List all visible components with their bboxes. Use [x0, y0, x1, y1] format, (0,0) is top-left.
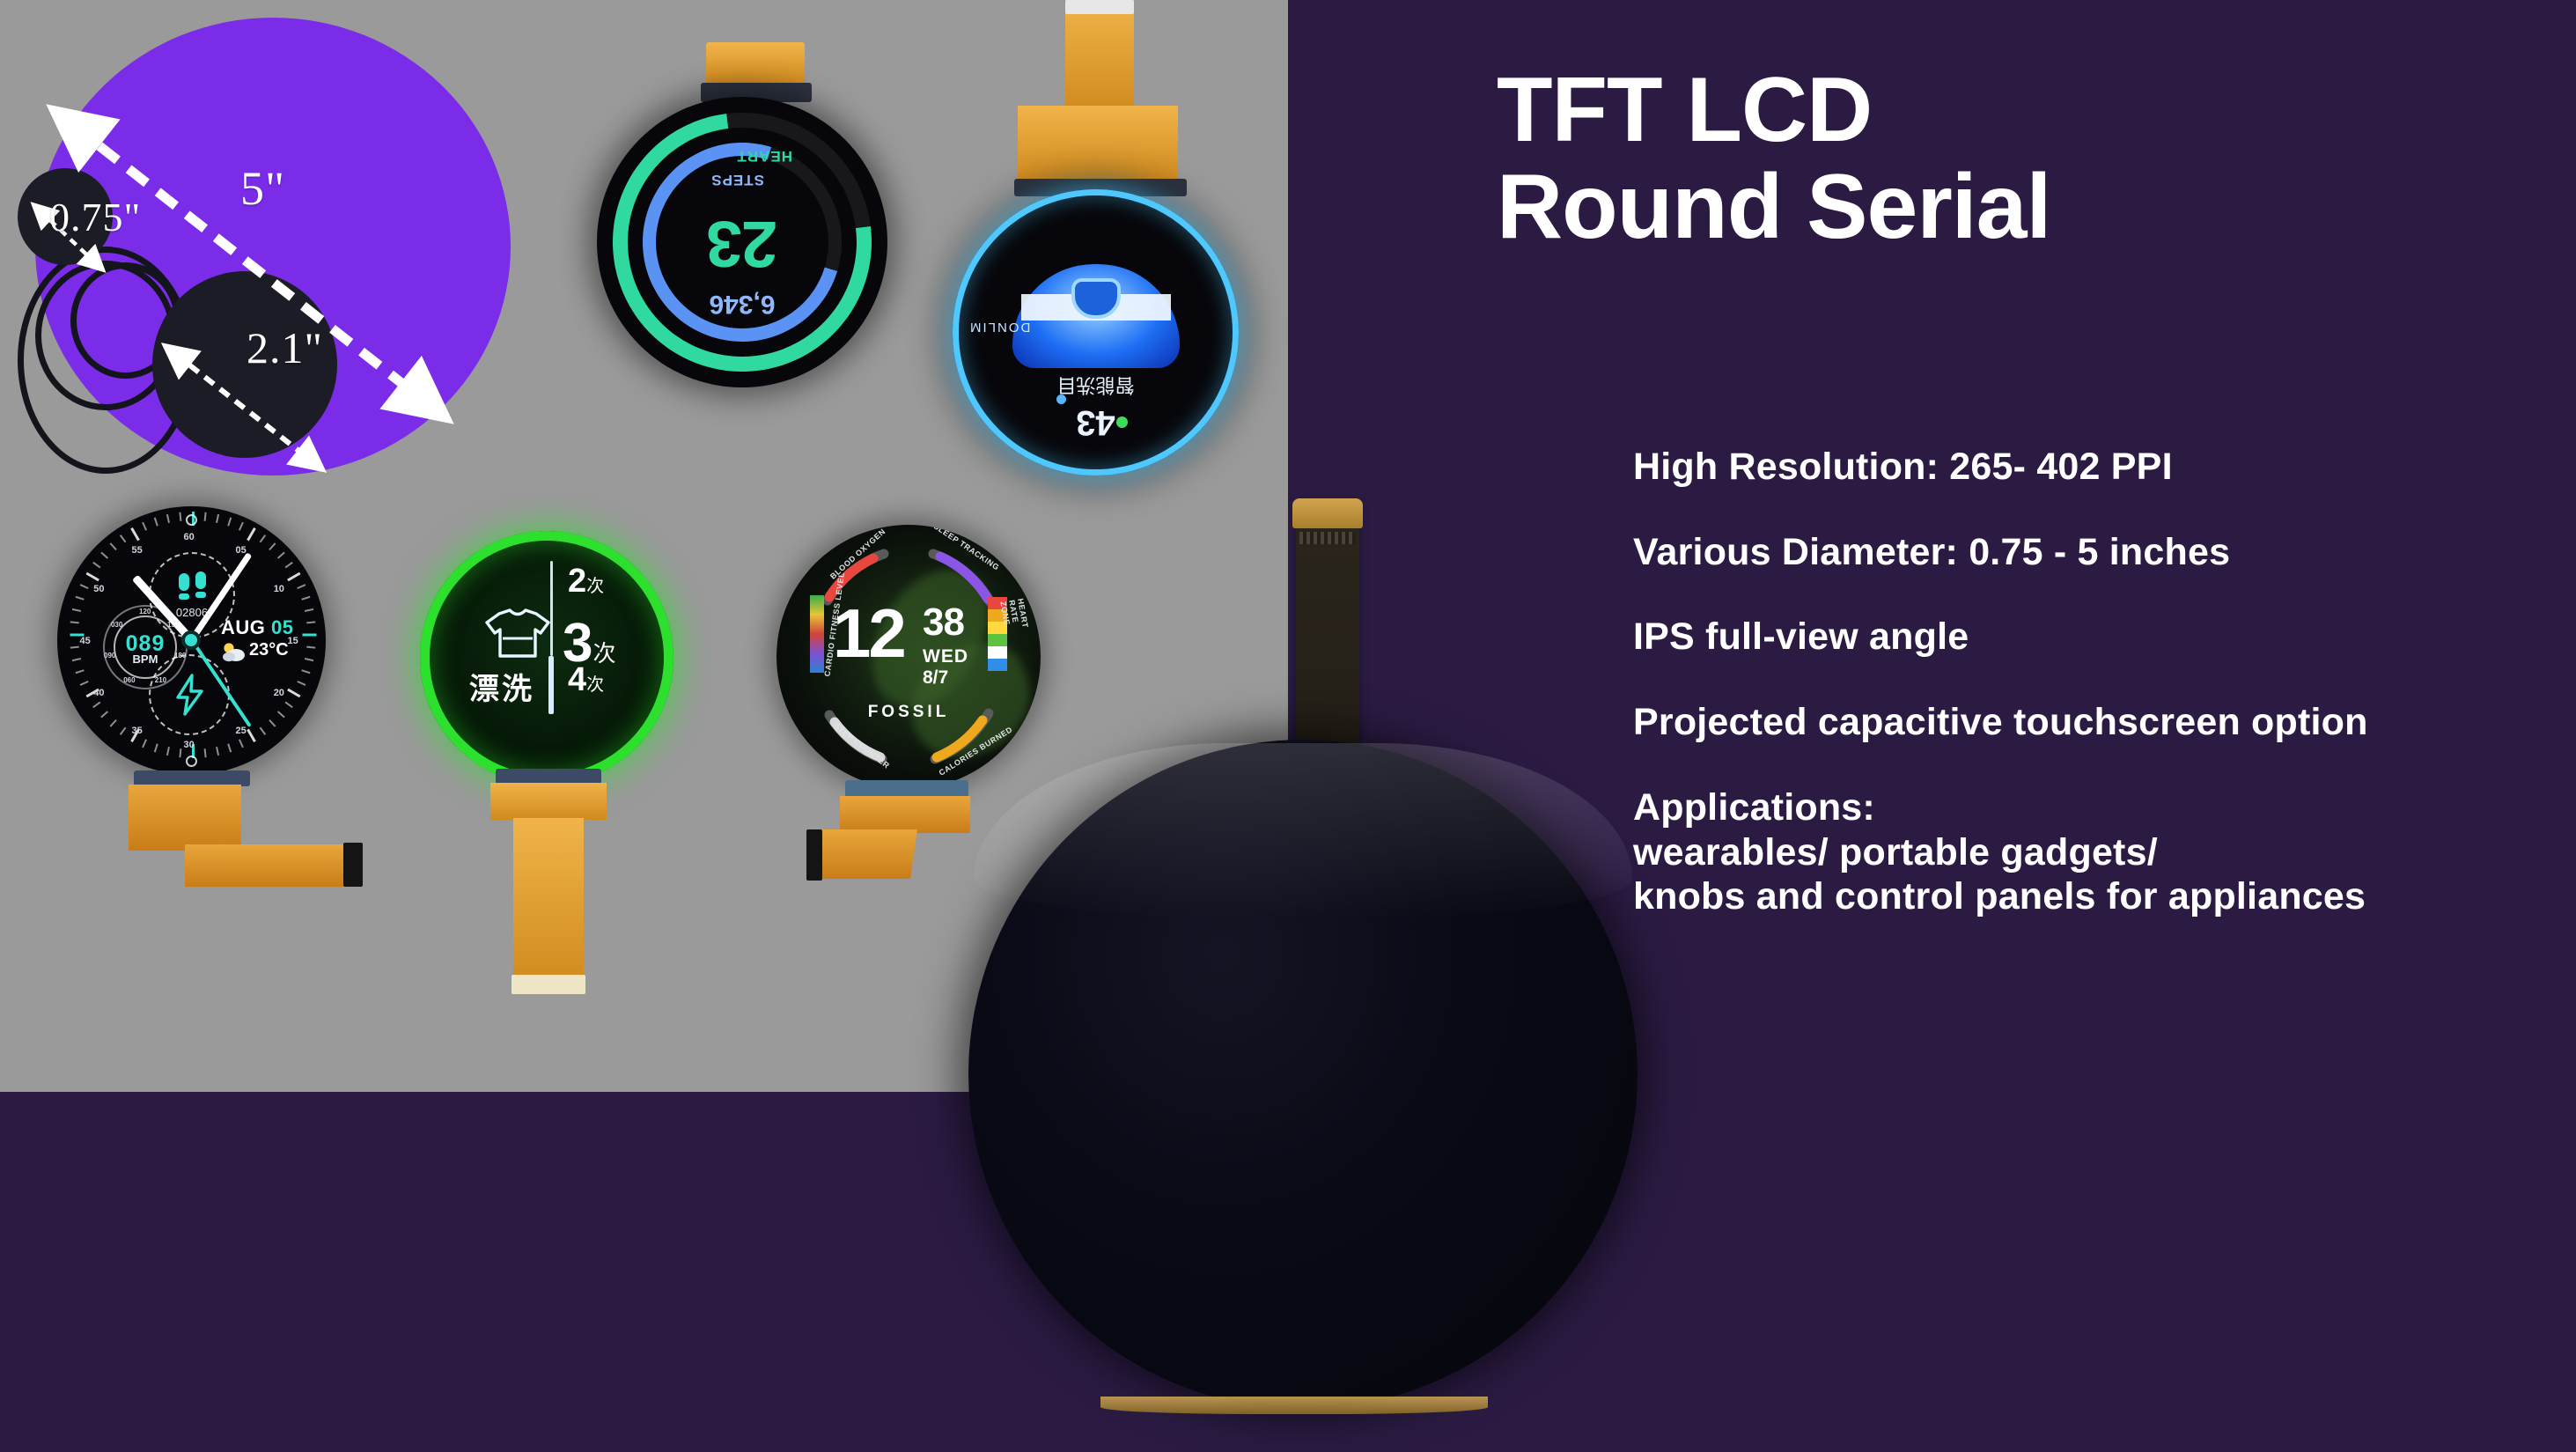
lightning-bolt-icon: [173, 674, 206, 716]
feature-item-ips: IPS full-view angle: [1633, 615, 2575, 660]
fitness-ring-screen: 23 6,346 HEART STEPS: [597, 97, 887, 387]
marker-top: [186, 514, 197, 526]
large-display-fpc-ribbon: [1296, 502, 1359, 766]
fpc-pin-edge: [1065, 0, 1134, 14]
green-washer-display-module: 漂洗 2次 3次 4次: [409, 524, 700, 1017]
fpc-ribbon-head: [1292, 498, 1363, 528]
minute-label: 20: [274, 688, 284, 698]
fpc-ribbon-tail: [1065, 0, 1134, 113]
title-line-1: TFT LCD: [1497, 59, 1872, 161]
minute-label: 35: [132, 726, 143, 736]
minute-label: 10: [274, 584, 284, 594]
applications-heading: Applications:: [1633, 785, 2575, 830]
date-day: 05: [271, 616, 293, 638]
bpm-scale-label: 120: [139, 608, 151, 615]
fpc-end-connector: [343, 843, 363, 887]
analog-watch-display-module: 600510152025303540455055 02806 089 BPM 1: [53, 498, 361, 955]
weather-icon: [220, 640, 247, 663]
feature-item-resolution: High Resolution: 265- 402 PPI: [1633, 445, 2575, 490]
large-display-bottom-edge: [1100, 1397, 1488, 1414]
content-column: TFT LCD Round Serial High Resolution: 26…: [1497, 0, 2576, 1452]
minute-label: 60: [184, 532, 195, 542]
fpc-ribbon-arm: [810, 829, 917, 879]
feature-item-diameter: Various Diameter: 0.75 - 5 inches: [1633, 530, 2575, 575]
minute-label: 55: [132, 545, 143, 556]
minute-label: 25: [236, 726, 247, 736]
applications-line-1: wearables/ portable gadgets/: [1633, 830, 2575, 875]
fpc-ribbon-body: [1018, 106, 1178, 183]
footsteps-icon: [177, 571, 209, 601]
applications-block: Applications: wearables/ portable gadget…: [1633, 785, 2575, 919]
steps-label: STEPS: [710, 171, 764, 188]
fpc-ribbon: [706, 42, 805, 85]
minute-label: 40: [93, 688, 104, 698]
fpc-ribbon-head: [840, 796, 970, 833]
size-label-5in: 5": [240, 161, 285, 216]
size-label-0_75in: 0.75": [49, 194, 141, 240]
steps-value: 6,346: [597, 289, 887, 319]
fpc-ribbon-head: [490, 783, 607, 820]
applications-line-2: knobs and control panels for appliances: [1633, 874, 2575, 919]
cardio-fitness-bars: [810, 595, 824, 673]
fpc-connector: [845, 780, 968, 798]
minute-label: 45: [80, 636, 91, 646]
date-month: AUG: [221, 616, 265, 638]
analog-watch-screen: 600510152025303540455055 02806 089 BPM 1: [57, 506, 326, 775]
date-text: AUG 05: [221, 616, 294, 639]
heart-label: HEART: [736, 147, 792, 165]
title-line-2: Round Serial: [1497, 158, 2050, 255]
size-label-2_1in: 2.1": [247, 322, 323, 373]
fpc-end-connector: [512, 975, 585, 994]
bpm-scale-label: 090: [104, 652, 115, 660]
minute-label: 30: [184, 740, 195, 750]
fpc-end-connector: [806, 829, 822, 881]
feature-item-touchscreen: Projected capacitive touchscreen option: [1633, 700, 2575, 745]
marker-bottom: [186, 755, 197, 767]
blue-backlight-ring: [953, 189, 1239, 475]
temperature-text: 23°C: [249, 640, 289, 660]
slide-root: 5" 2.1" 0.75" 23 6,346 HEART STEPS: [0, 0, 2576, 1452]
bpm-scale-label: 030: [111, 621, 122, 629]
minute-label: 50: [93, 584, 104, 594]
size-comparison-diagram: 5" 2.1" 0.75": [16, 7, 526, 487]
fpc-ribbon-tail: [513, 818, 584, 987]
page-title: TFT LCD Round Serial: [1497, 62, 2050, 255]
fpc-ribbon-arm: [185, 844, 357, 887]
heart-value: 23: [597, 207, 887, 282]
fpc-ribbon-head: [129, 785, 241, 851]
fitness-ring-display-module: 23 6,346 HEART STEPS: [581, 18, 898, 414]
feature-list: High Resolution: 265- 402 PPI Various Di…: [1633, 445, 2575, 919]
blue-washer-display-module: 智能洗目 43 DONLIM: [933, 0, 1268, 493]
green-backlight-ring: [420, 531, 673, 785]
bpm-scale-label: 060: [123, 676, 135, 684]
fpc-ribbon-pins: [1299, 532, 1356, 544]
hand-pivot: [181, 630, 201, 650]
